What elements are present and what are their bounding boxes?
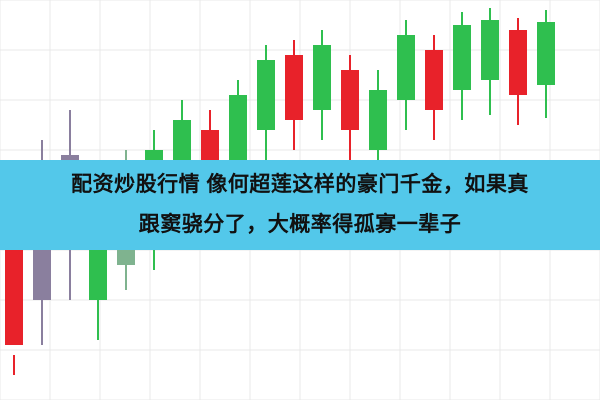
headline-line-2: 跟窦骁分了，大概率得孤寡一辈子 bbox=[139, 205, 462, 245]
candle-body bbox=[285, 55, 303, 120]
headline-line-1: 配资炒股行情 像何超莲这样的豪门千金，如果真 bbox=[71, 165, 529, 205]
candle-body bbox=[369, 90, 387, 150]
candle-body bbox=[509, 30, 527, 95]
headline-overlay-band: 配资炒股行情 像何超莲这样的豪门千金，如果真 跟窦骁分了，大概率得孤寡一辈子 bbox=[0, 160, 600, 250]
candle-body bbox=[313, 45, 331, 110]
stock-news-image: 配资炒股行情 像何超莲这样的豪门千金，如果真 跟窦骁分了，大概率得孤寡一辈子 bbox=[0, 0, 600, 400]
candle-body bbox=[397, 35, 415, 100]
candle-body bbox=[425, 50, 443, 110]
candle-body bbox=[257, 60, 275, 130]
candle-body bbox=[341, 70, 359, 130]
candle-body bbox=[537, 22, 555, 85]
candle-body bbox=[453, 25, 471, 90]
candle-body bbox=[481, 20, 499, 80]
